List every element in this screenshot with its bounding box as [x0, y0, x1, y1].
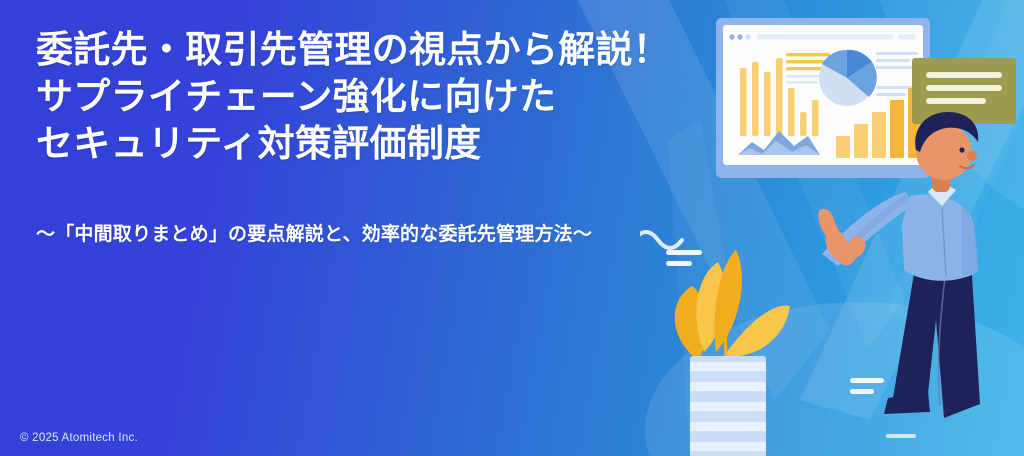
headline-line-2: サプライチェーン強化に向けた: [36, 73, 736, 120]
potted-plant: [675, 250, 790, 456]
squiggle-mark: [640, 232, 682, 248]
copyright-notice: © 2025 Atomitech Inc.: [20, 432, 138, 444]
headline-block: 委託先・取引先管理の視点から解説！ サプライチェーン強化に向けた セキュリティ対…: [36, 26, 736, 167]
page-title: 委託先・取引先管理の視点から解説！ サプライチェーン強化に向けた セキュリティ対…: [36, 26, 736, 167]
person-head: [915, 112, 978, 180]
promo-banner: 委託先・取引先管理の視点から解説！ サプライチェーン強化に向けた セキュリティ対…: [0, 0, 1024, 456]
dashboard-screen: [716, 18, 930, 178]
plant-pot: [690, 356, 766, 456]
headline-line-1: 委託先・取引先管理の視点から解説！: [36, 26, 736, 73]
person-hand: [818, 209, 865, 266]
headline-line-3: セキュリティ対策評価制度: [36, 120, 736, 167]
person-shoe: [884, 392, 930, 414]
subtitle: 〜「中間取りまとめ」の要点解説と、効率的な委託先管理方法〜: [36, 222, 592, 248]
